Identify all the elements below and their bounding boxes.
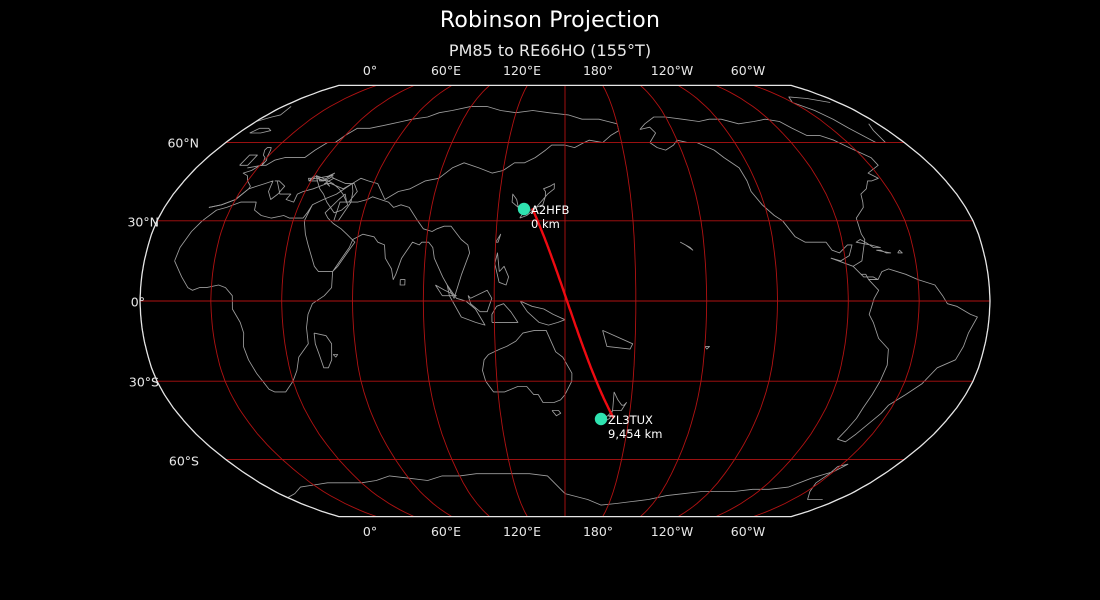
station-label-destination: ZL3TUX 9,454 km [608,414,662,441]
lat-tick-60n: 60°N [167,136,199,151]
map-figure: Robinson Projection PM85 to RE66HO (155°… [0,0,1100,600]
lon-tick-bottom-3: 180° [583,524,613,539]
station-callsign-origin: A2HFB [531,204,569,218]
lon-tick-top-0: 0° [363,63,377,78]
station-marker-destination[interactable] [595,413,607,425]
figure-background [0,0,1100,600]
lon-tick-bottom-5: 60°W [731,524,766,539]
lon-tick-top-1: 60°E [431,63,461,78]
lon-tick-bottom-0: 0° [363,524,377,539]
station-marker-origin[interactable] [518,203,530,215]
lon-tick-bottom-1: 60°E [431,524,461,539]
lon-tick-top-2: 120°E [503,63,541,78]
station-label-origin: A2HFB 0 km [531,204,569,231]
page-title: Robinson Projection [0,8,1100,33]
lat-tick-30s: 30°S [129,375,159,390]
station-callsign-destination: ZL3TUX [608,414,662,428]
robinson-map-canvas [0,0,1100,600]
lat-tick-30n: 30°N [127,215,159,230]
lon-tick-top-4: 120°W [651,63,693,78]
map-subtitle: PM85 to RE66HO (155°T) [0,41,1100,60]
lon-tick-bottom-2: 120°E [503,524,541,539]
station-distance-destination: 9,454 km [608,428,662,442]
station-distance-origin: 0 km [531,218,569,232]
lon-tick-top-5: 60°W [731,63,766,78]
lat-tick-0: 0° [131,295,145,310]
lat-tick-60s: 60°S [169,454,199,469]
lon-tick-top-3: 180° [583,63,613,78]
lon-tick-bottom-4: 120°W [651,524,693,539]
